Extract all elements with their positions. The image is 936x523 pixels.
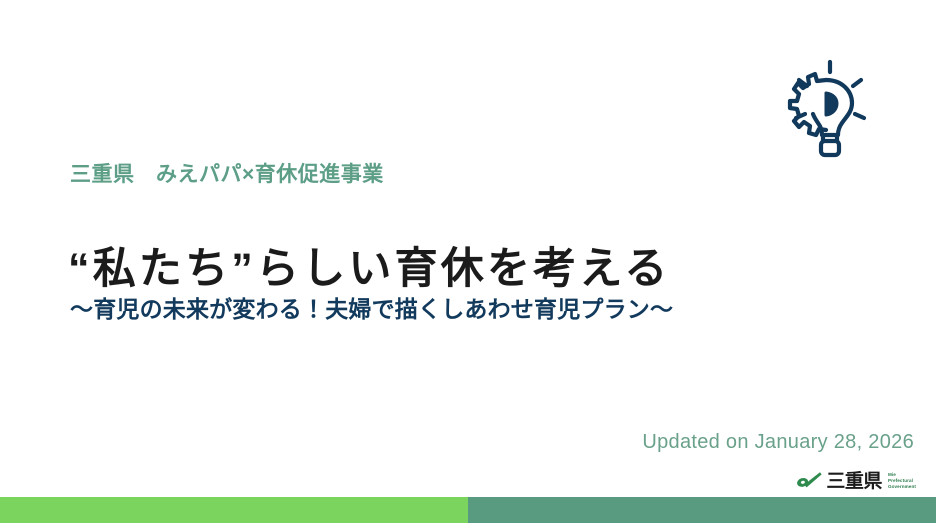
lightbulb-gear-icon — [786, 56, 874, 160]
mie-logo-english: Mie Prefectural Government — [888, 472, 916, 490]
accent-bar-green — [0, 497, 468, 523]
mie-prefecture-logo: 三重県 Mie Prefectural Government — [796, 468, 916, 494]
eyebrow-text: 三重県 みえパパ×育休促進事業 — [70, 162, 384, 187]
mie-logo-english-line-3: Government — [888, 484, 916, 490]
page-subtitle: ～育児の未来が変わる！夫婦で描くしあわせ育児プラン～ — [70, 295, 673, 325]
lightbulb-gear-icon-svg — [786, 56, 874, 160]
page-title: “私たち”らしい育休を考える — [68, 243, 671, 297]
mie-logo-name: 三重県 — [826, 472, 882, 491]
updated-date-text: Updated on January 28, 2026 — [642, 431, 914, 454]
accent-bar-sage — [468, 497, 936, 523]
title-slide: 三重県 みえパパ×育休促進事業 “私たち”らしい育休を考える ～育児の未来が変わ… — [0, 0, 936, 523]
bottom-accent-bars — [0, 497, 936, 523]
mie-check-swoosh-mark — [796, 471, 822, 491]
